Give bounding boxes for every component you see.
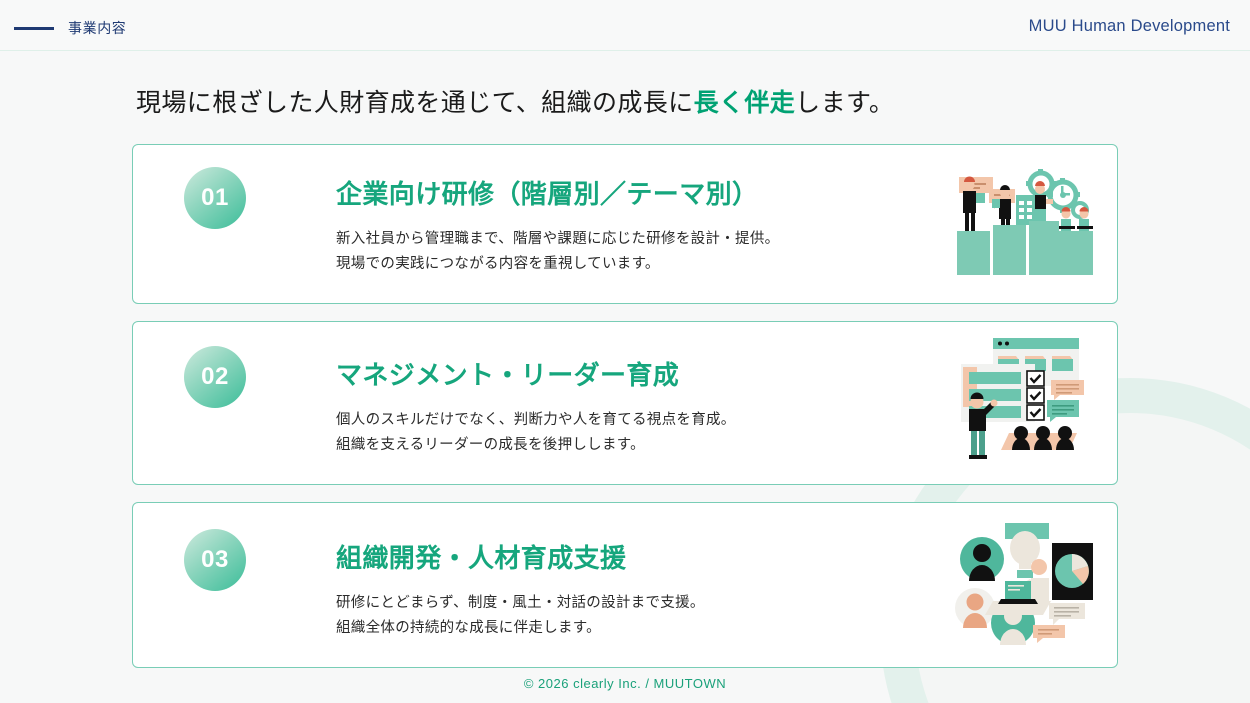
service-card[interactable]: 02 マネジメント・リーダー育成 個人のスキルだけでなく、判断力や人を育てる視点… [132,321,1118,485]
card-title: 企業向け研修（階層別／テーマ別） [336,174,779,211]
checklist-presentation-illustration [951,334,1093,469]
card-title: マネジメント・リーダー育成 [336,355,736,392]
lead-statement: 現場に根ざした人財育成を通じて、組織の成長に長く伴走します。 [136,83,894,119]
card-number-badge: 03 [184,529,246,591]
lead-text-after: します。 [795,89,894,117]
card-description-line-1: 研修にとどまらず、制度・風土・対話の設計まで支援。 [336,591,705,616]
dash-rule-icon [14,27,54,30]
lead-highlight: 長く伴走 [694,89,796,117]
training-steps-illustration [943,159,1093,282]
slide-root: 事業内容 MUU Human Development 現場に根ざした人財育成を通… [0,0,1250,703]
footer-copyright: © 2026 clearly Inc. / MUUTOWN [0,676,1250,691]
card-description-line-1: 個人のスキルだけでなく、判断力や人を育てる視点を育成。 [336,408,736,433]
team-collaboration-illustration [953,515,1093,654]
lead-text-before: 現場に根ざした人財育成を通じて、組織の成長に [136,89,694,117]
card-number-badge: 02 [184,346,246,408]
service-card[interactable]: 01 企業向け研修（階層別／テーマ別） 新入社員から管理職まで、階層や課題に応じ… [132,144,1118,304]
card-description-line-2: 組織全体の持続的な成長に伴走します。 [336,616,705,641]
card-body: マネジメント・リーダー育成 個人のスキルだけでなく、判断力や人を育てる視点を育成… [336,355,736,458]
header-left-group: 事業内容 [14,18,126,38]
card-number-badge: 01 [184,167,246,229]
card-title: 組織開発・人材育成支援 [336,538,705,575]
brand-title: MUU Human Development [1029,17,1230,36]
card-description-line-2: 組織を支えるリーダーの成長を後押しします。 [336,433,736,458]
service-card-list: 01 企業向け研修（階層別／テーマ別） 新入社員から管理職まで、階層や課題に応じ… [132,144,1118,685]
card-description-line-1: 新入社員から管理職まで、階層や課題に応じた研修を設計・提供。 [336,227,779,252]
card-body: 企業向け研修（階層別／テーマ別） 新入社員から管理職まで、階層や課題に応じた研修… [336,174,779,277]
slide-header: 事業内容 MUU Human Development [0,0,1250,51]
service-card[interactable]: 03 組織開発・人材育成支援 研修にとどまらず、制度・風土・対話の設計まで支援。… [132,502,1118,668]
card-description-line-2: 現場での実践につながる内容を重視しています。 [336,252,779,277]
section-label: 事業内容 [68,18,126,38]
card-body: 組織開発・人材育成支援 研修にとどまらず、制度・風土・対話の設計まで支援。 組織… [336,538,705,641]
